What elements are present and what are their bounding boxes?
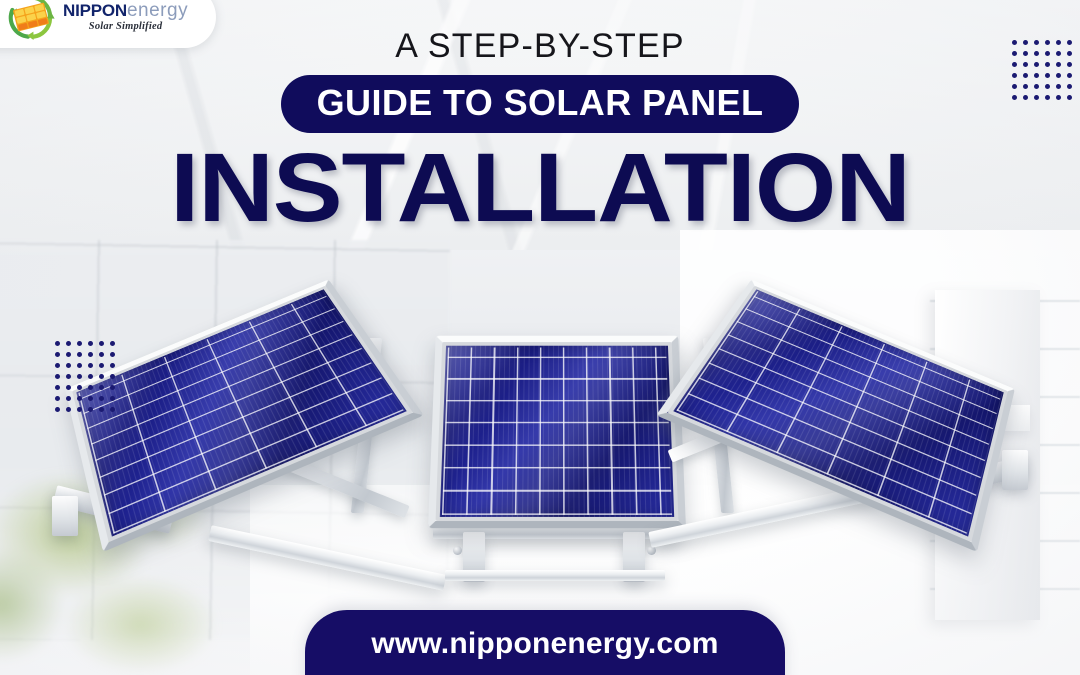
website-url-bar[interactable]: www.nipponenergy.com [305, 610, 785, 675]
brand-name-bold: NIPPON [63, 1, 127, 20]
left-rig-base-rail [208, 525, 446, 591]
dot-grid-left [55, 341, 125, 421]
center-rig-bottom-rail [445, 570, 665, 581]
left-rig-front-foot-end [52, 496, 78, 536]
brand-logo-badge[interactable]: NIPPONenergy Solar Simplified [0, 0, 216, 48]
right-rig-front-foot-end [1002, 450, 1028, 490]
headline-pill: GUIDE TO SOLAR PANEL [281, 75, 800, 133]
brand-wordmark: NIPPONenergy Solar Simplified [63, 1, 188, 33]
marketing-banner: NIPPONenergy Solar Simplified A STEP-BY-… [0, 0, 1080, 675]
page-title: INSTALLATION [0, 137, 1080, 239]
brand-name-light: energy [127, 0, 188, 21]
brand-tagline: Solar Simplified [63, 22, 188, 33]
center-panel-face [436, 342, 679, 521]
solar-panel-recycle-icon [6, 0, 56, 40]
center-solar-panel [436, 342, 679, 521]
website-url-text: www.nipponenergy.com [371, 627, 718, 661]
center-rig-left-bolt [453, 546, 462, 555]
right-solar-panel-rig [650, 300, 1040, 590]
